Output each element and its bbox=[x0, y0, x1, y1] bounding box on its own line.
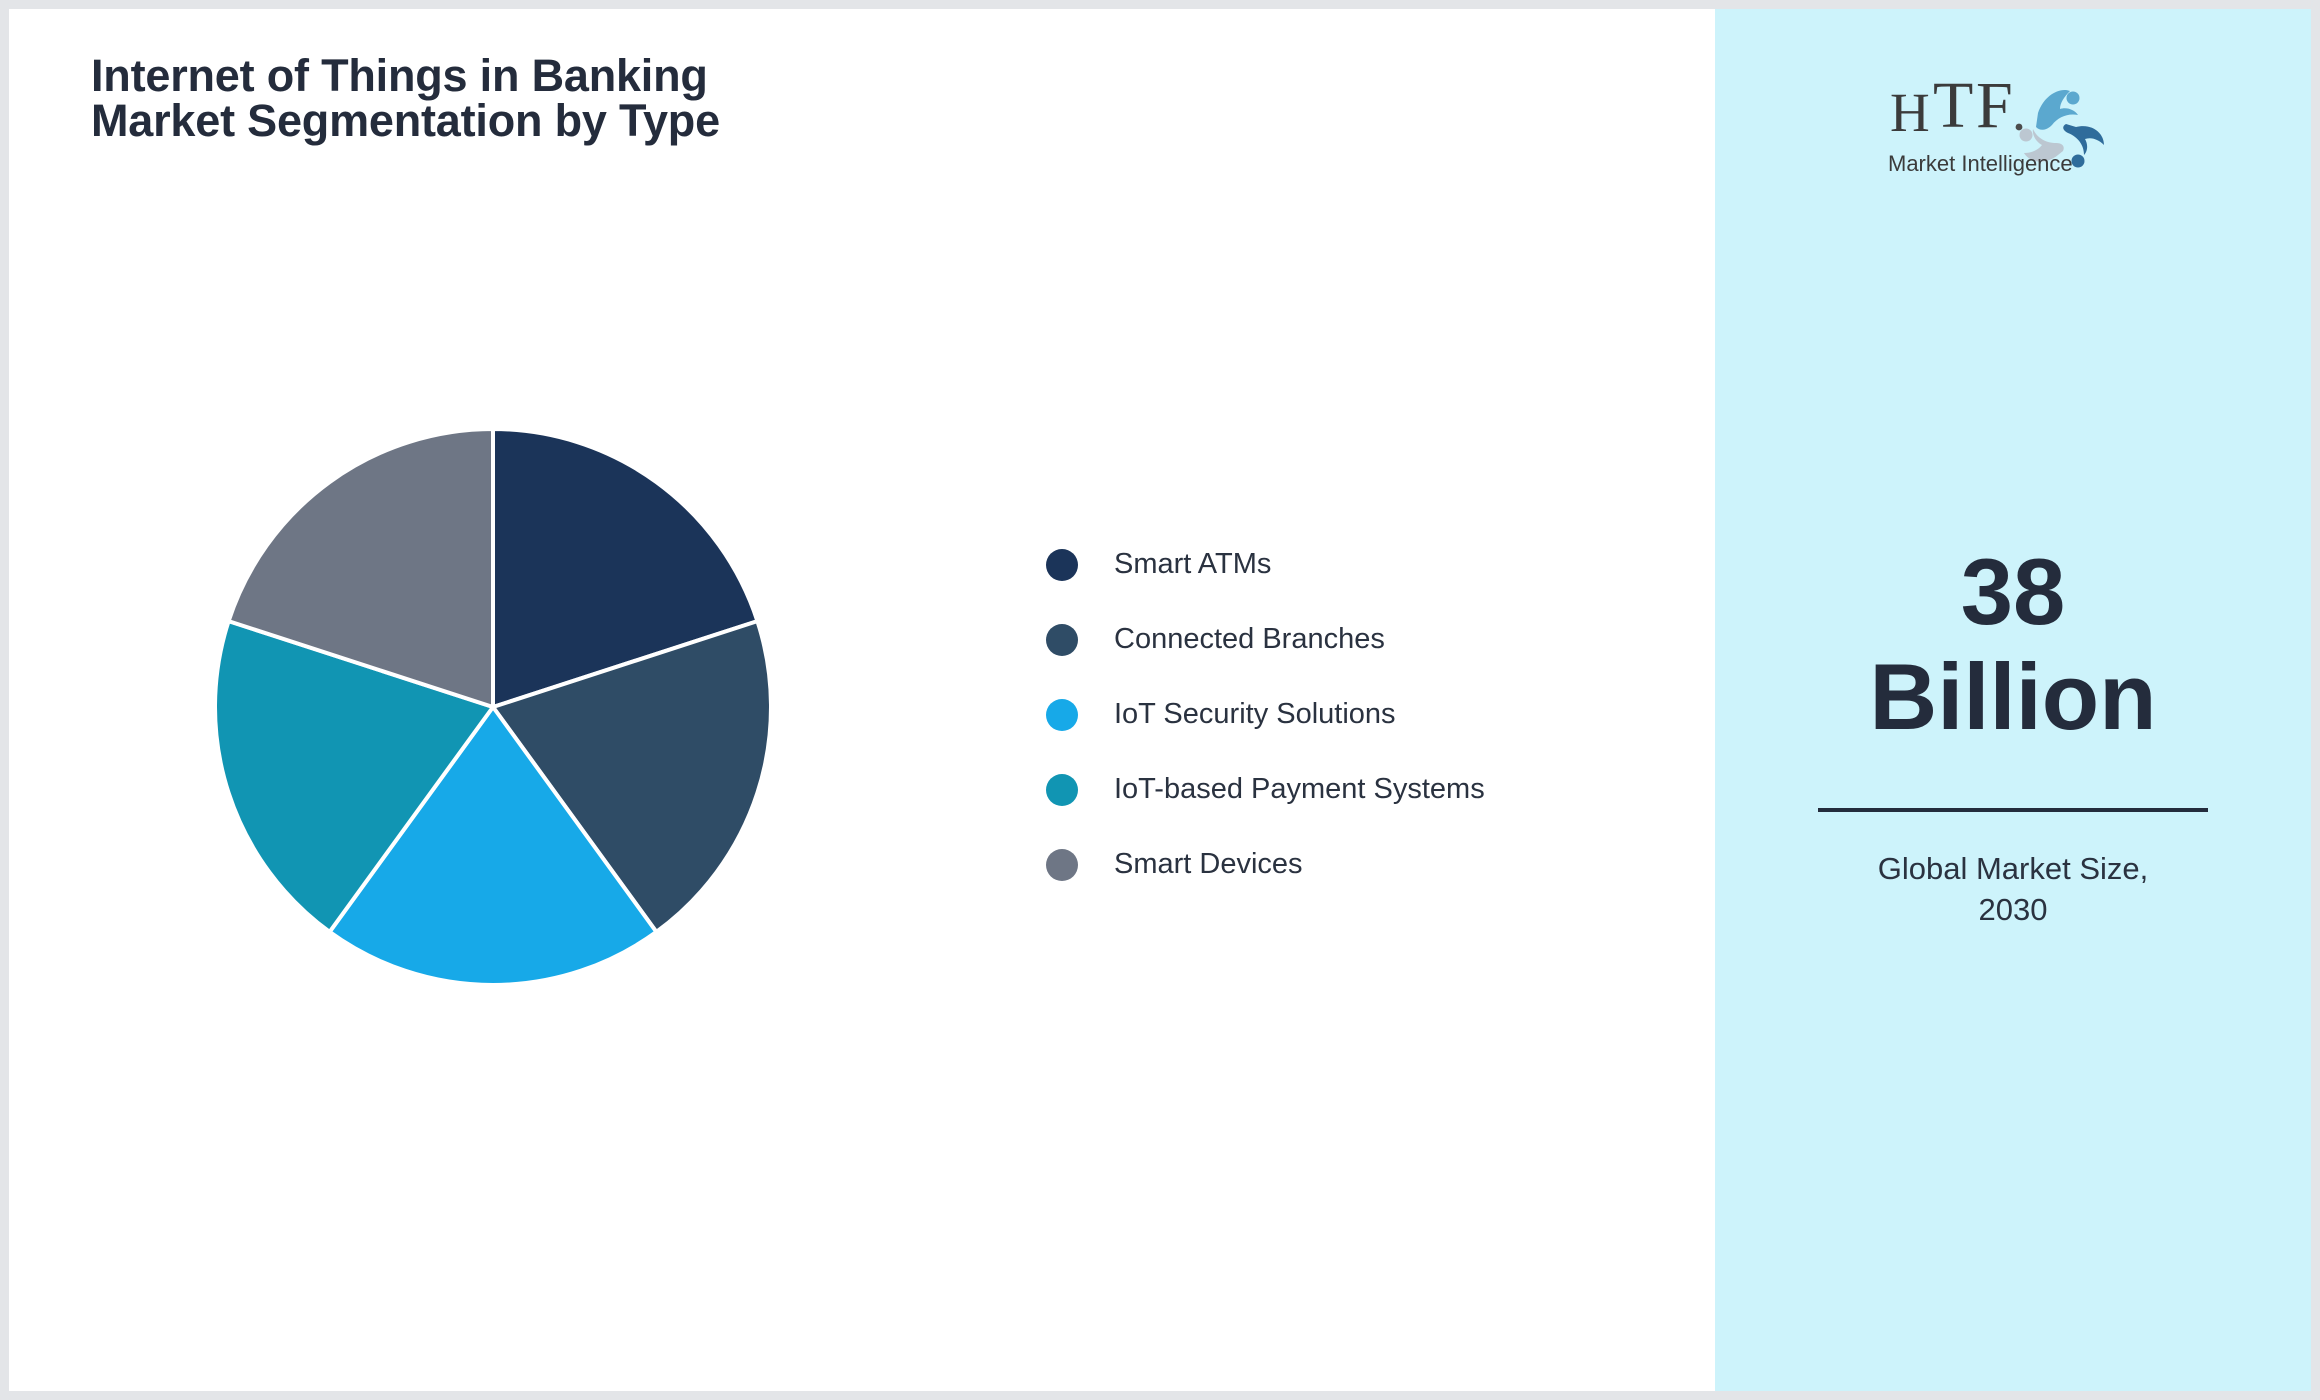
legend-item-smart-atms[interactable]: Smart ATMs bbox=[1046, 527, 1646, 602]
stat-caption: Global Market Size, 2030 bbox=[1878, 848, 2149, 932]
chart-area: Smart ATMs Connected Branches IoT Securi… bbox=[9, 9, 1715, 1391]
legend-item-label: Connected Branches bbox=[1114, 625, 1385, 654]
brand-logo: H T F Market Intelligence bbox=[1715, 69, 2311, 179]
pie-slice-group bbox=[215, 429, 771, 985]
circle-swatch-icon bbox=[1046, 699, 1078, 731]
circle-swatch-icon bbox=[1046, 549, 1078, 581]
legend-item-connected-branches[interactable]: Connected Branches bbox=[1046, 602, 1646, 677]
legend-item-label: IoT Security Solutions bbox=[1114, 700, 1396, 729]
logo-tagline: Market Intelligence bbox=[1888, 151, 2073, 176]
legend-item-iot-based-payment-systems[interactable]: IoT-based Payment Systems bbox=[1046, 752, 1646, 827]
statistic-block: 38 Billion Global Market Size, 2030 bbox=[1715, 539, 2311, 931]
legend-item-label: Smart ATMs bbox=[1114, 550, 1271, 579]
infographic-canvas: Internet of Things in Banking Market Seg… bbox=[9, 9, 2311, 1391]
legend-item-iot-security-solutions[interactable]: IoT Security Solutions bbox=[1046, 677, 1646, 752]
circle-swatch-icon bbox=[1046, 624, 1078, 656]
pie-chart bbox=[215, 429, 771, 985]
chart-legend: Smart ATMs Connected Branches IoT Securi… bbox=[1046, 527, 1646, 902]
legend-item-label: Smart Devices bbox=[1114, 850, 1303, 879]
svg-text:T: T bbox=[1933, 69, 1973, 142]
main-panel: Internet of Things in Banking Market Seg… bbox=[9, 9, 1715, 1391]
sidebar-panel: H T F Market Intelligence 38 Billion bbox=[1715, 9, 2311, 1391]
stat-value: 38 Billion bbox=[1869, 539, 2156, 750]
htf-logo-icon: H T F Market Intelligence bbox=[1888, 69, 2138, 179]
svg-text:F: F bbox=[1976, 69, 2013, 142]
pie-chart-svg bbox=[215, 429, 771, 985]
circle-swatch-icon bbox=[1046, 774, 1078, 806]
svg-text:H: H bbox=[1890, 82, 1930, 143]
legend-item-label: IoT-based Payment Systems bbox=[1114, 775, 1485, 804]
legend-item-smart-devices[interactable]: Smart Devices bbox=[1046, 827, 1646, 902]
stat-divider bbox=[1818, 808, 2208, 812]
circle-swatch-icon bbox=[1046, 849, 1078, 881]
